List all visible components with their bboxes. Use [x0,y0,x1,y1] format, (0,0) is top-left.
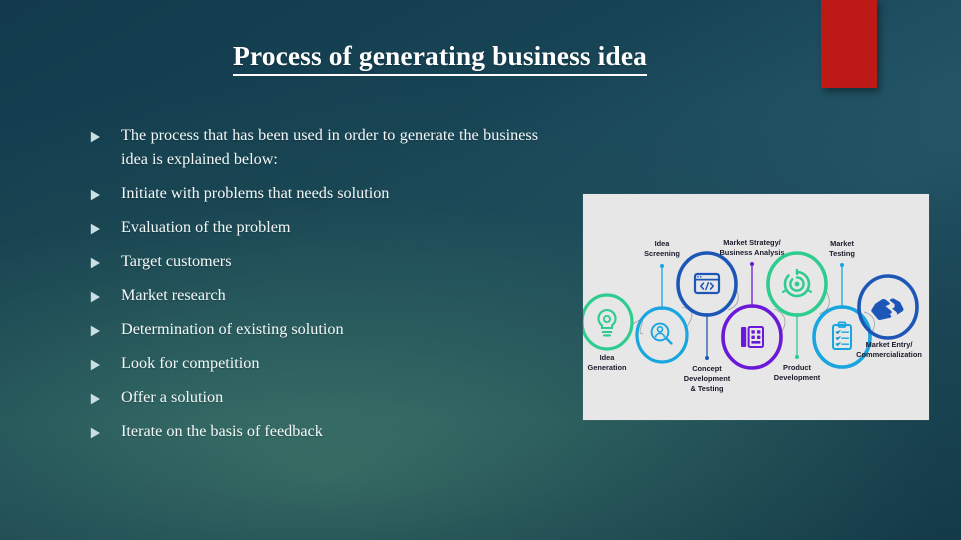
list-item: Target customers [90,250,538,274]
label-market-entry: Market Entry/ Commercialization [856,340,922,359]
red-accent-block [821,0,877,88]
list-item-text: Market research [121,284,538,308]
stage-label: Market Strategy/ [723,238,781,247]
list-item-text: Initiate with problems that needs soluti… [121,182,538,206]
list-item: The process that has been used in order … [90,124,538,171]
bullet-list: The process that has been used in order … [90,124,538,454]
list-item: Look for competition [90,352,538,376]
list-item-text: Evaluation of the problem [121,216,538,240]
label-market-testing: Market Testing [829,239,855,258]
list-item-text: The process that has been used in order … [121,124,538,171]
page-title: Process of generating business idea [60,40,820,76]
stage-label: Generation [587,363,626,372]
stage-label: Testing [829,249,855,258]
bullet-triangle-icon [90,393,102,405]
stage-label: & Testing [690,384,724,393]
list-item: Initiate with problems that needs soluti… [90,182,538,206]
page-title-text: Process of generating business idea [233,40,647,76]
list-item: Determination of existing solution [90,318,538,342]
bullet-triangle-icon [90,131,102,143]
list-item: Market research [90,284,538,308]
diagram-canvas: Idea Generation Idea Screening [583,194,929,420]
list-item: Offer a solution [90,386,538,410]
stage-label: Idea [600,353,616,362]
stage-label: Development [774,373,821,382]
stage-label: Development [684,374,731,383]
bullet-triangle-icon [90,359,102,371]
stage-label: Concept [692,364,722,373]
stage-label: Market [830,239,854,248]
bullet-triangle-icon [90,325,102,337]
bullet-triangle-icon [90,223,102,235]
list-item-text: Determination of existing solution [121,318,538,342]
presentation-slide: Process of generating business idea The … [0,0,961,540]
list-item: Iterate on the basis of feedback [90,420,538,444]
label-market-strategy: Market Strategy/ Business Analysis [719,238,784,257]
bullet-triangle-icon [90,291,102,303]
list-item: Evaluation of the problem [90,216,538,240]
list-item-text: Offer a solution [121,386,538,410]
stage-label: Idea [655,239,671,248]
list-item-text: Look for competition [121,352,538,376]
business-idea-process-diagram: Idea Generation Idea Screening [583,194,929,420]
stage-label: Screening [644,249,680,258]
stage-label: Market Entry/ [866,340,913,349]
bullet-triangle-icon [90,257,102,269]
stage-label: Business Analysis [719,248,784,257]
bullet-triangle-icon [90,427,102,439]
list-item-text: Iterate on the basis of feedback [121,420,538,444]
stage-label: Product [783,363,811,372]
list-item-text: Target customers [121,250,538,274]
stage-label: Commercialization [856,350,922,359]
bullet-triangle-icon [90,189,102,201]
